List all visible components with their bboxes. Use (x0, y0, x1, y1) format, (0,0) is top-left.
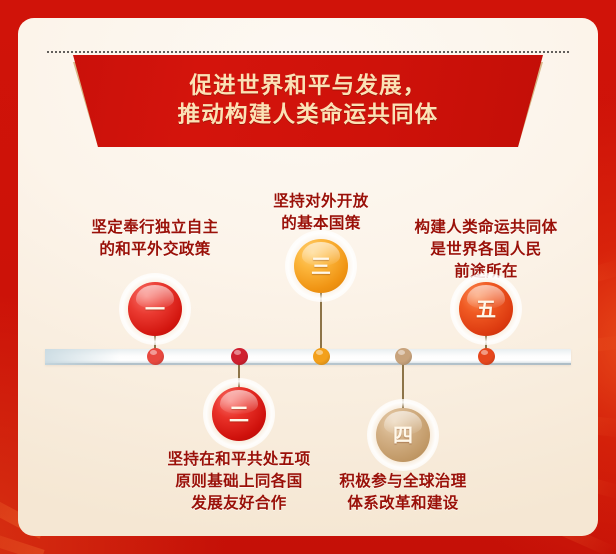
banner-line-1: 促进世界和平与发展， (189, 74, 426, 99)
bubble-numeral: 五 (476, 299, 496, 319)
banner-line-2: 推动构建人类命运共同体 (178, 103, 439, 128)
banner-text-block: 促进世界和平与发展， 推动构建人类命运共同体 (58, 55, 558, 147)
item-label-line: 前途所在 (196, 260, 598, 282)
item-label-line: 是世界各国人民 (196, 238, 598, 260)
item-label-line: 构建人类命运共同体 (196, 216, 598, 238)
number-bubble-2[interactable]: 二 (212, 387, 266, 441)
item-label-4: 积极参与全球治理体系改革和建设 (113, 470, 598, 514)
timeline-dot-5 (478, 348, 495, 365)
bubble-numeral: 四 (393, 425, 413, 445)
number-bubble-3[interactable]: 三 (294, 239, 348, 293)
item-label-5: 构建人类命运共同体是世界各国人民前途所在 (196, 216, 598, 282)
bubble-numeral: 三 (311, 256, 331, 276)
content-panel: 促进世界和平与发展， 推动构建人类命运共同体 一坚定奉行独立自主的和平外交政策二… (18, 18, 598, 536)
bubble-numeral: 一 (145, 299, 165, 319)
infographic-canvas: 促进世界和平与发展， 推动构建人类命运共同体 一坚定奉行独立自主的和平外交政策二… (0, 0, 616, 554)
dotted-divider (46, 51, 570, 53)
timeline-dot-1 (147, 348, 164, 365)
title-banner: 促进世界和平与发展， 推动构建人类命运共同体 (58, 55, 558, 147)
item-label-line: 体系改革和建设 (113, 492, 598, 514)
number-bubble-5[interactable]: 五 (459, 282, 513, 336)
item-label-line: 积极参与全球治理 (113, 470, 598, 492)
timeline-dot-2 (231, 348, 248, 365)
number-bubble-4[interactable]: 四 (376, 408, 430, 462)
number-bubble-1[interactable]: 一 (128, 282, 182, 336)
timeline-dot-4 (395, 348, 412, 365)
item-label-line: 坚持在和平共处五项 (18, 448, 529, 470)
item-label-line: 坚持对外开放 (31, 190, 598, 212)
bubble-numeral: 二 (229, 404, 249, 424)
timeline-dot-3 (313, 348, 330, 365)
